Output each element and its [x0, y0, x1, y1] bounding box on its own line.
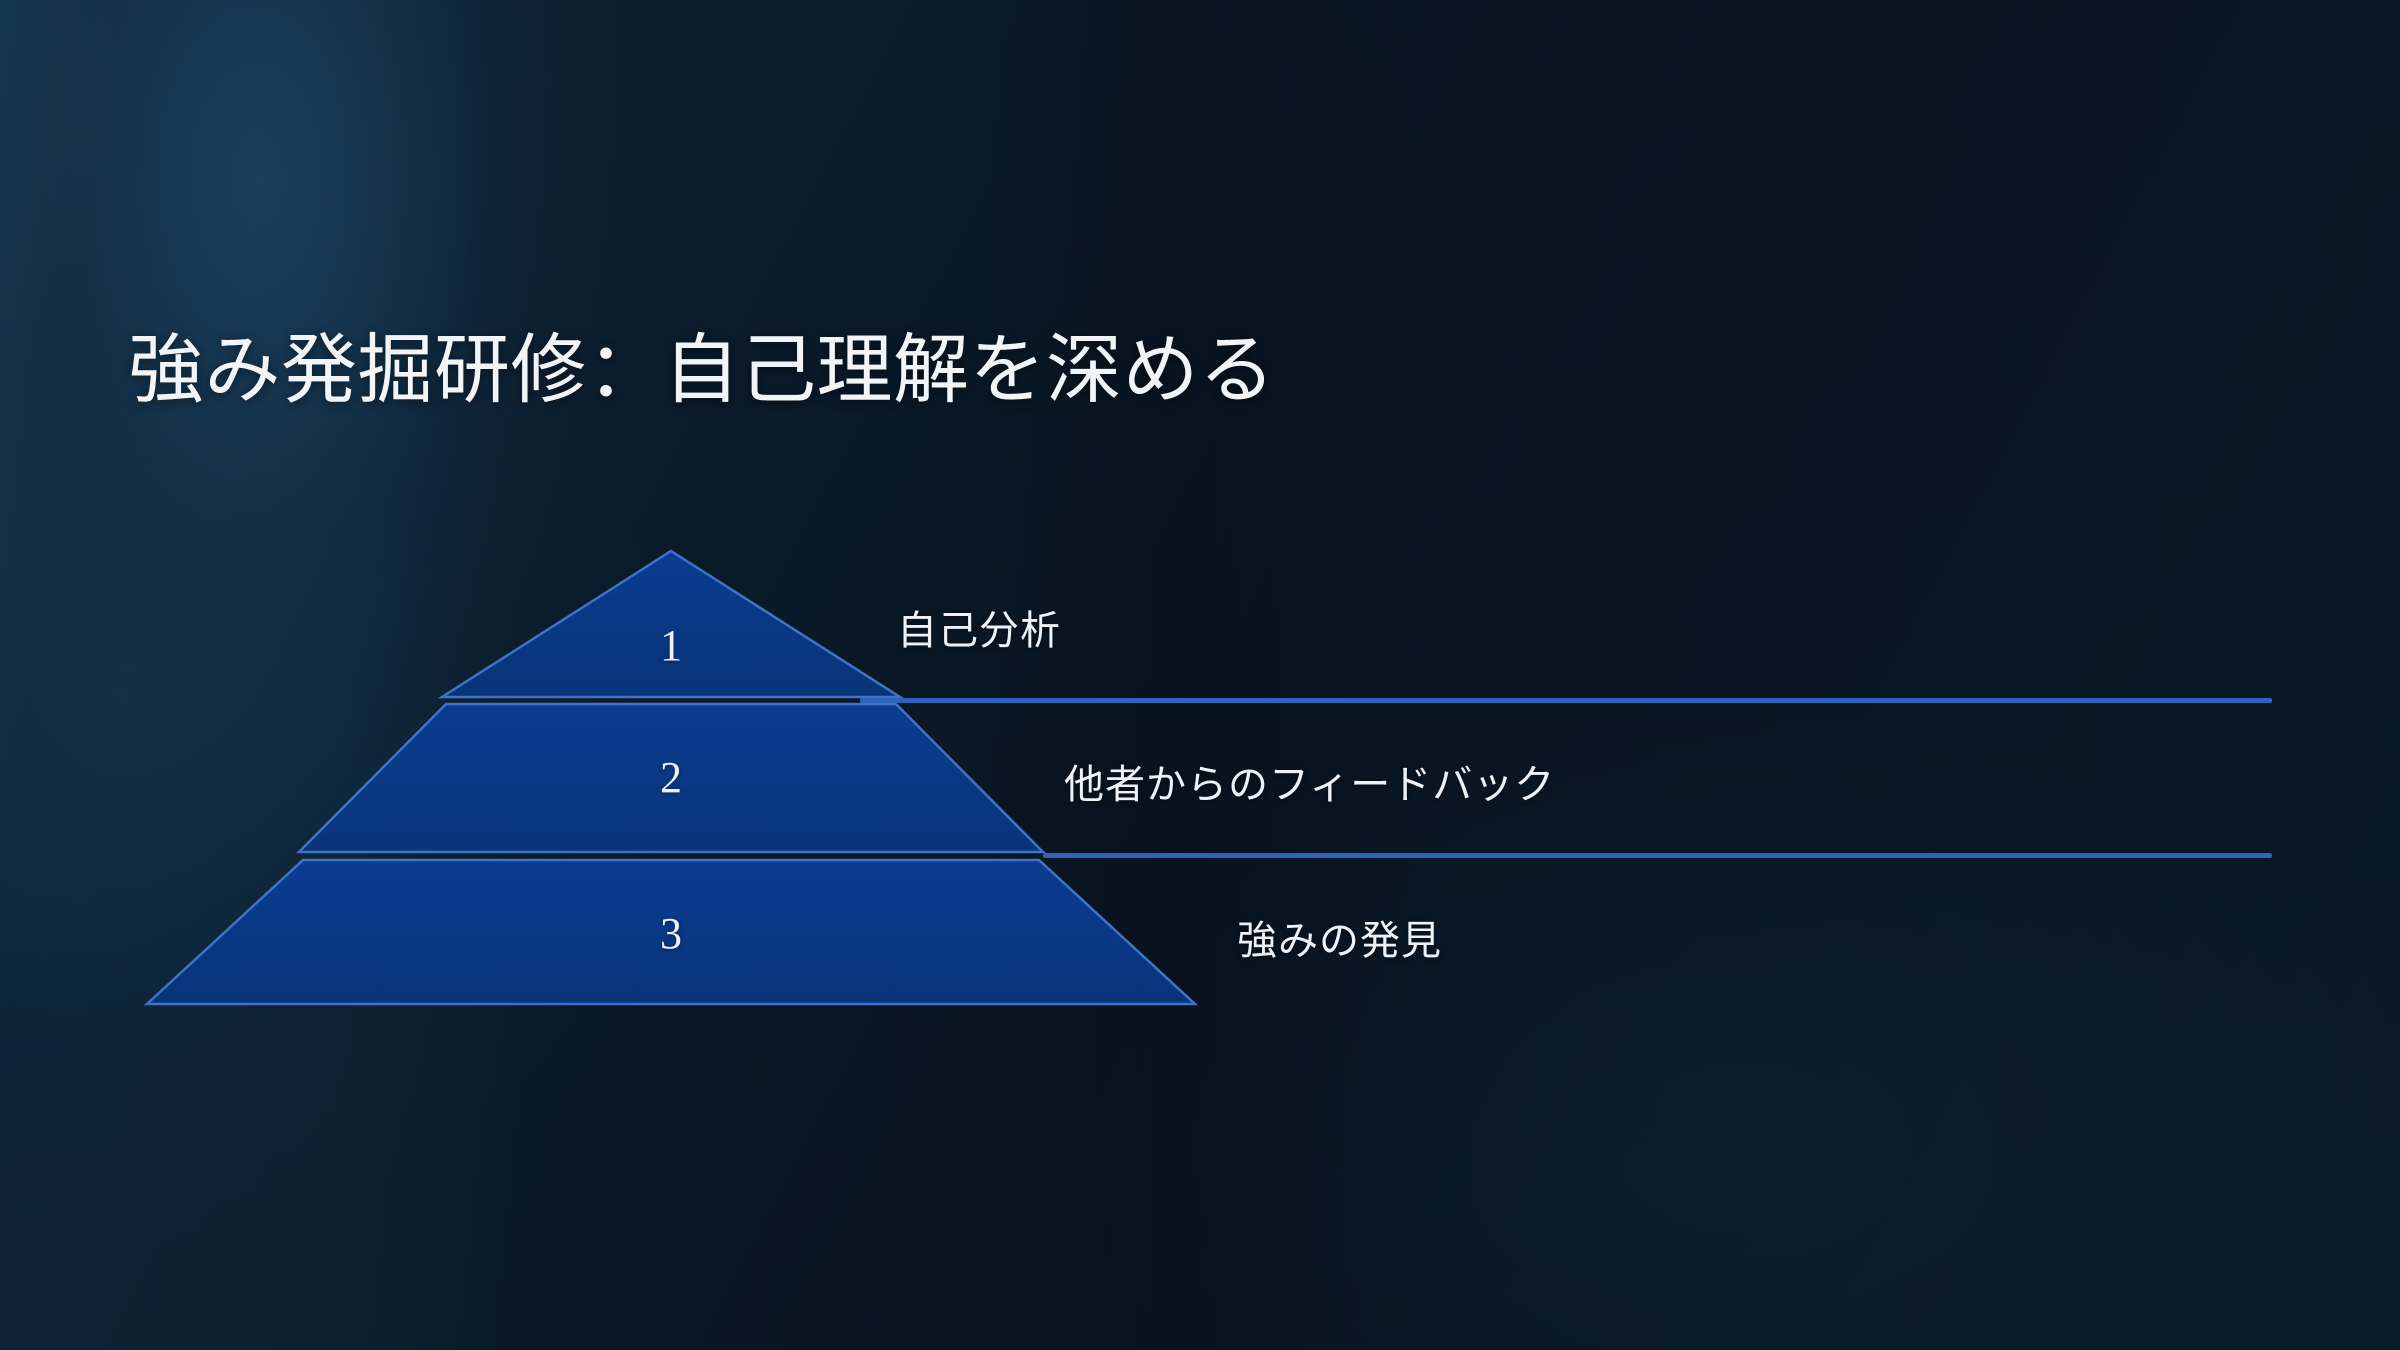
pyramid-shapes — [0, 0, 2400, 1350]
pyramid-level-3-number: 3 — [611, 908, 731, 959]
slide-canvas: 強み発掘研修：自己理解を深める 1 2 3 自己分析 他者からのフィードバック … — [0, 0, 2400, 1350]
pyramid-level-2-label: 他者からのフィードバック — [1064, 752, 1555, 810]
pyramid-diagram: 1 2 3 自己分析 他者からのフィードバック 強みの発見 — [0, 0, 2400, 1350]
divider-level-1 — [860, 698, 2272, 703]
pyramid-level-1-number: 1 — [611, 620, 731, 671]
divider-level-2 — [1043, 853, 2272, 858]
pyramid-level-1-label: 自己分析 — [897, 598, 1061, 656]
pyramid-level-2-number: 2 — [611, 752, 731, 803]
pyramid-level-3-label: 強みの発見 — [1237, 908, 1442, 966]
